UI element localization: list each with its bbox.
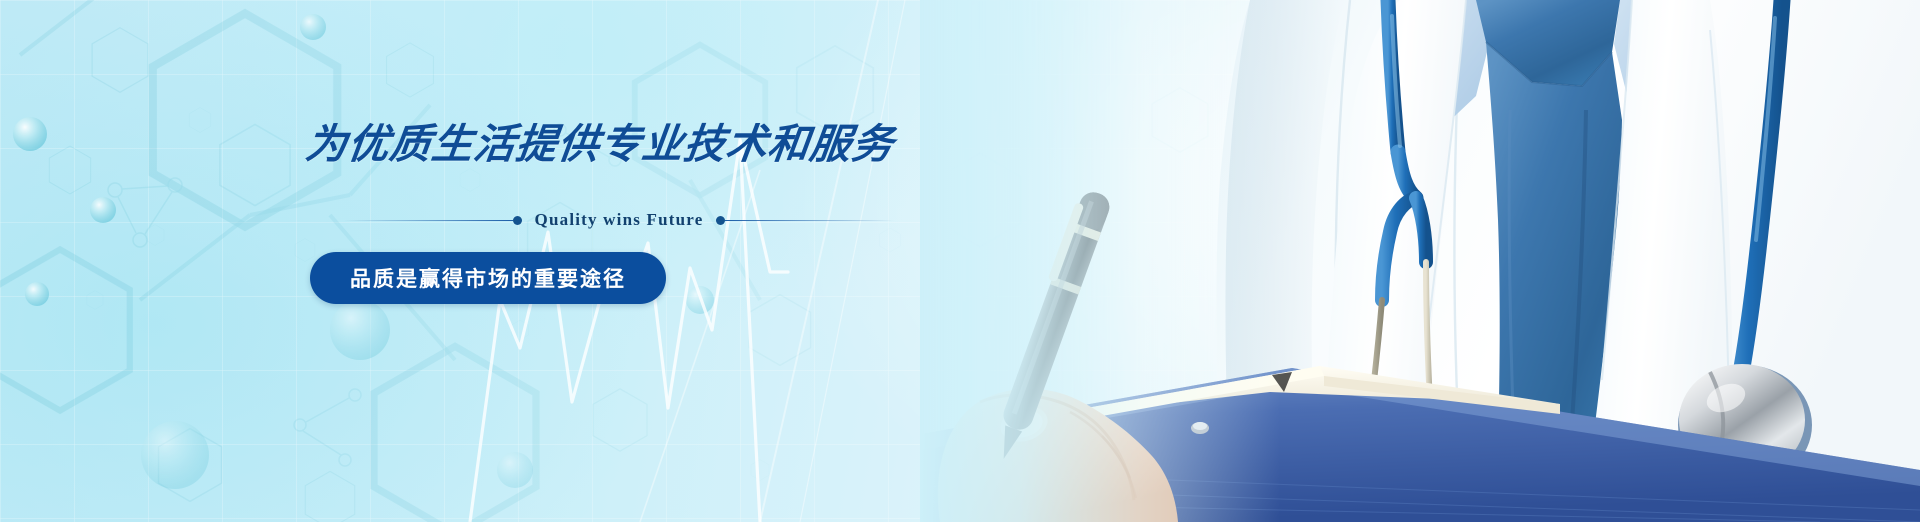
divider-line-left [344,220,513,221]
doctor-photo [920,0,1920,522]
slogan-pill-button[interactable]: 品质是赢得市场的重要途径 [310,252,666,304]
hero-banner: 为优质生活提供专业技术和服务 Quality wins Future 品质是赢得… [0,0,1920,522]
divider-dot-left [513,216,522,225]
divider-dot-right [716,216,725,225]
banner-content: 为优质生活提供专业技术和服务 Quality wins Future 品质是赢得… [306,120,926,304]
tagline-text: Quality wins Future [522,210,717,230]
page-title: 为优质生活提供专业技术和服务 [303,120,929,168]
divider-line-right [725,220,894,221]
tagline-divider: Quality wins Future [344,210,894,230]
